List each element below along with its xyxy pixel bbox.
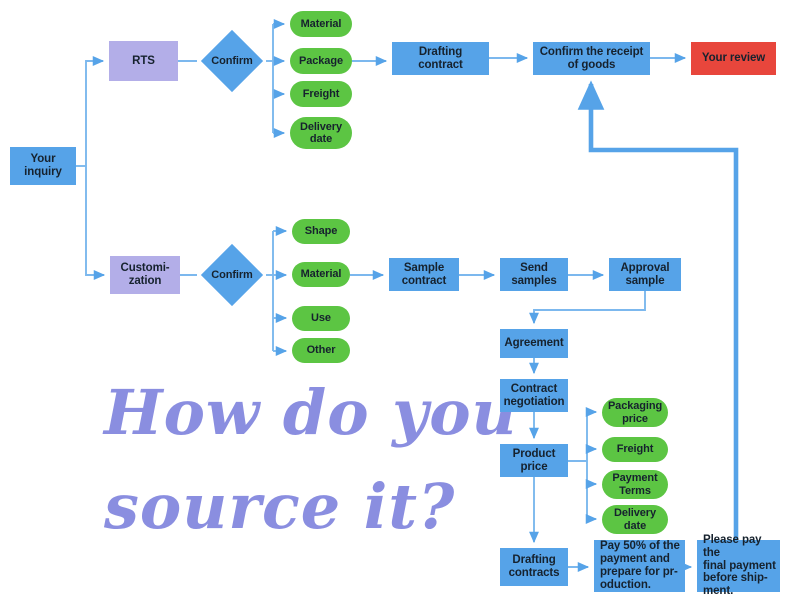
node-rts-freight[interactable]: Freight: [290, 81, 352, 107]
node-your-review[interactable]: Your review: [691, 42, 776, 75]
node-label: Drafting contracts: [509, 554, 560, 580]
node-label: Agreement: [504, 337, 563, 350]
node-label: Shape: [305, 225, 338, 237]
node-label: Use: [311, 312, 331, 324]
node-label: Material: [301, 268, 342, 280]
node-customization[interactable]: Customi- zation: [110, 256, 180, 294]
node-final-payment[interactable]: Please pay the final payment before ship…: [697, 540, 780, 592]
node-label: Approval sample: [620, 262, 669, 288]
node-label: Freight: [617, 443, 654, 455]
node-label: Packaging price: [608, 400, 662, 425]
node-agreement[interactable]: Agreement: [500, 329, 568, 358]
node-drafting-contract[interactable]: Drafting contract: [392, 42, 489, 75]
node-label: Drafting contract: [418, 46, 463, 72]
node-confirm-rts[interactable]: Confirm: [198, 38, 266, 84]
node-product-price[interactable]: Product price: [500, 444, 568, 477]
node-drafting-contracts[interactable]: Drafting contracts: [500, 548, 568, 586]
node-label: Sample contract: [402, 262, 447, 288]
node-label: Send samples: [511, 262, 556, 288]
node-label: Please pay the final payment before ship…: [703, 534, 780, 598]
node-label: RTS: [132, 55, 155, 68]
node-pp-payment-terms[interactable]: Payment Terms: [602, 470, 668, 499]
node-label: Your review: [702, 52, 765, 65]
node-pay-50[interactable]: Pay 50% of the payment and prepare for p…: [594, 540, 685, 592]
node-label: Product price: [513, 448, 556, 474]
node-contract-negotiation[interactable]: Contract negotiation: [500, 379, 568, 412]
node-confirm-custom[interactable]: Confirm: [198, 252, 266, 298]
node-label: Your inquiry: [24, 153, 62, 179]
node-label: Confirm: [211, 55, 252, 67]
node-sample-contract[interactable]: Sample contract: [389, 258, 459, 291]
node-rts[interactable]: RTS: [109, 41, 178, 81]
node-send-samples[interactable]: Send samples: [500, 258, 568, 291]
node-cst-use[interactable]: Use: [292, 306, 350, 331]
node-approval-sample[interactable]: Approval sample: [609, 258, 681, 291]
node-pp-freight[interactable]: Freight: [602, 437, 668, 462]
node-rts-delivery-date[interactable]: Delivery date: [290, 117, 352, 149]
node-label: Other: [307, 344, 336, 356]
node-label: Confirm the receipt of goods: [540, 46, 644, 72]
node-pp-delivery-date[interactable]: Delivery date: [602, 505, 668, 534]
node-rts-material[interactable]: Material: [290, 11, 352, 37]
node-label: Delivery date: [300, 121, 342, 146]
node-label: Delivery date: [614, 507, 656, 532]
node-label: Package: [299, 55, 343, 67]
node-label: Material: [301, 18, 342, 30]
node-cst-other[interactable]: Other: [292, 338, 350, 363]
node-pp-packaging-price[interactable]: Packaging price: [602, 398, 668, 427]
node-your-inquiry[interactable]: Your inquiry: [10, 147, 76, 185]
headline-overlay: How do you source it?: [104, 366, 518, 554]
node-label: Pay 50% of the payment and prepare for p…: [600, 540, 680, 592]
node-rts-package[interactable]: Package: [290, 48, 352, 74]
node-cst-shape[interactable]: Shape: [292, 219, 350, 244]
node-label: Payment Terms: [612, 472, 657, 497]
node-cst-material[interactable]: Material: [292, 262, 350, 287]
node-label: Confirm: [211, 269, 252, 281]
node-label: Contract negotiation: [504, 383, 565, 409]
node-label: Customi- zation: [120, 262, 169, 288]
flowchart-canvas: How do you source it? Your inquiryRTSCon…: [0, 0, 790, 606]
node-label: Freight: [303, 88, 340, 100]
node-confirm-receipt[interactable]: Confirm the receipt of goods: [533, 42, 650, 75]
